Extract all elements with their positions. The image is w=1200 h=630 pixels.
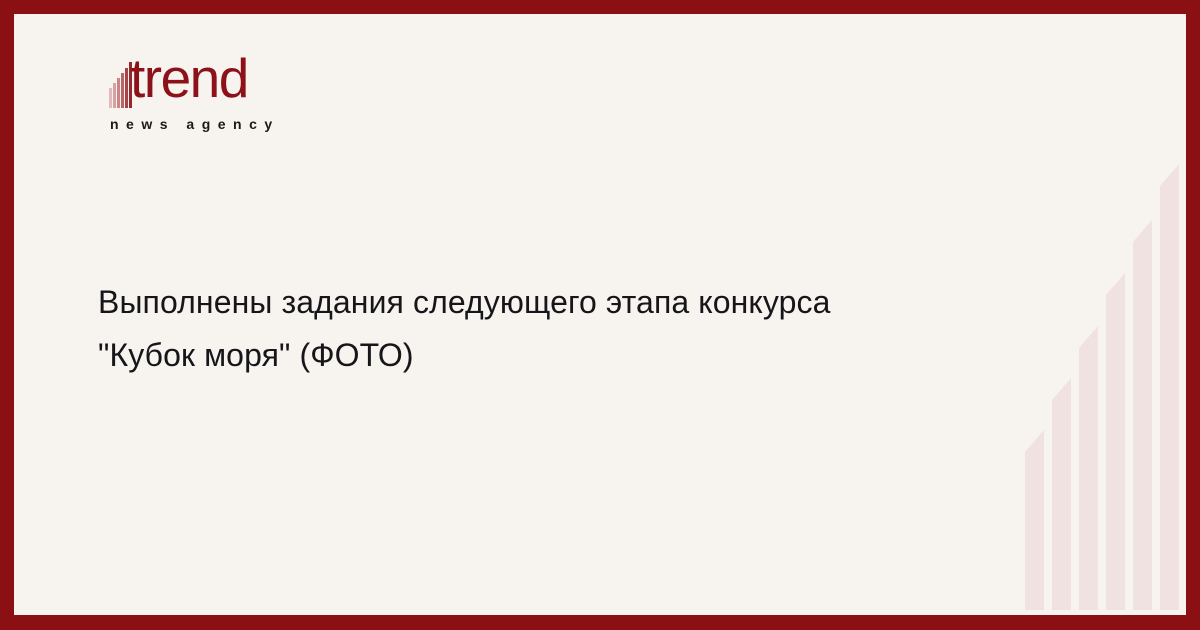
logo-bar (117, 78, 120, 108)
logo-bar (113, 83, 116, 108)
news-card: trend news agency Выполнены задания след… (0, 0, 1200, 630)
watermark-bar (1160, 164, 1179, 610)
watermark-bar (1079, 326, 1098, 610)
headline-line: "Кубок моря" (ФОТО) (98, 329, 1078, 382)
logo-wordmark: trend (130, 51, 248, 106)
logo-bar (109, 88, 112, 108)
headline-line: Выполнены задания следующего этапа конку… (98, 276, 1078, 329)
trend-logo[interactable]: trend news agency (96, 45, 356, 145)
watermark-bar (1025, 430, 1044, 610)
watermark-bar (1106, 273, 1125, 610)
logo-bar (125, 68, 128, 108)
page-title: Выполнены задания следующего этапа конку… (98, 276, 1078, 382)
ascending-bars-watermark (1025, 164, 1185, 610)
watermark-bar (1133, 220, 1152, 610)
card-inner: trend news agency Выполнены задания след… (14, 14, 1186, 615)
watermark-bar (1052, 378, 1071, 610)
logo-bar (121, 73, 124, 108)
logo-tagline: news agency (110, 116, 280, 132)
